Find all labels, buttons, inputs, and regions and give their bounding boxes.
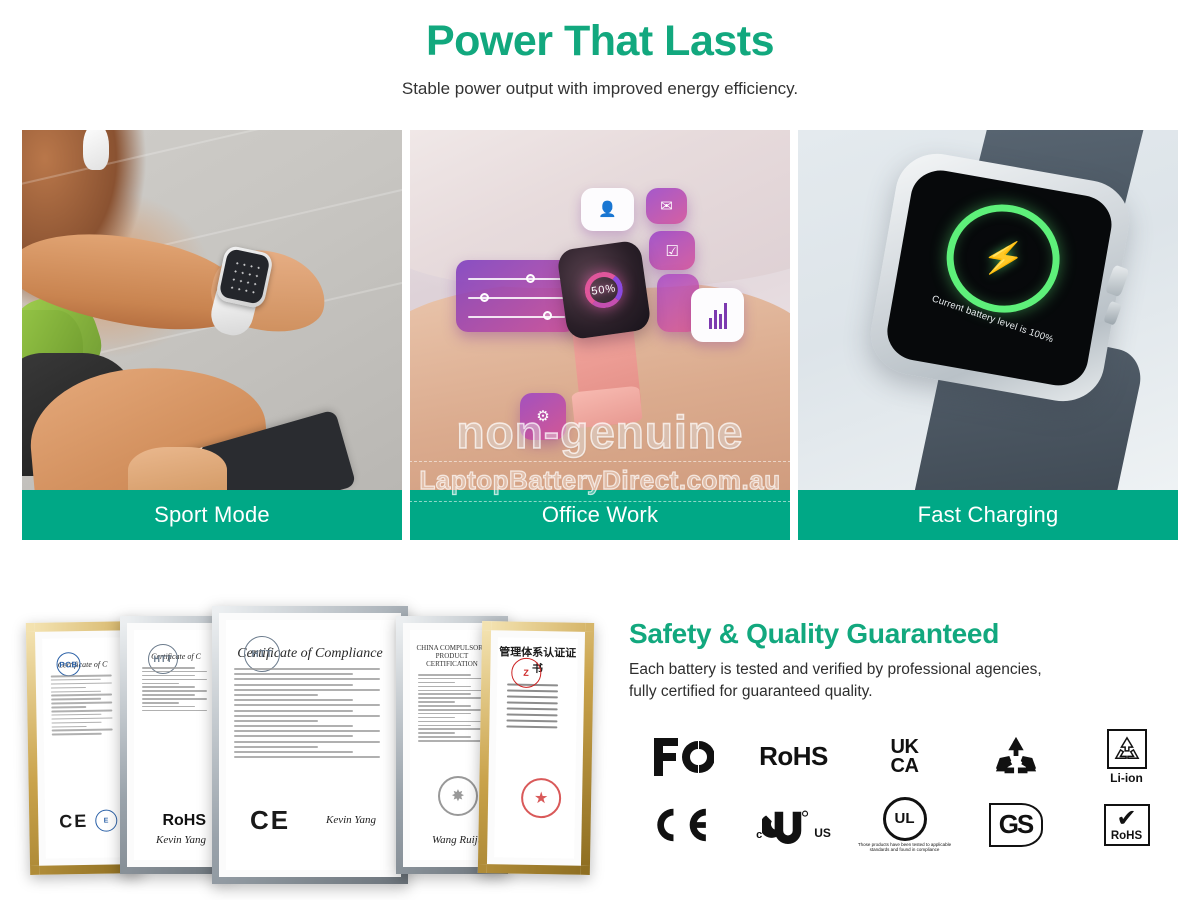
sport-mode-photo — [22, 130, 402, 490]
safety-description-line2: fully certified for guaranteed quality. — [629, 683, 873, 700]
marketing-page: Power That Lasts Stable power output wit… — [0, 0, 1200, 900]
rohs-check-label: RoHS — [1111, 830, 1142, 842]
ukca-badge-icon: UK CA — [891, 726, 919, 788]
page-subtitle: Stable power output with improved energy… — [0, 79, 1200, 99]
analytics-tile — [691, 288, 744, 342]
certificate-body-lines — [142, 667, 210, 711]
bar-chart-icon — [691, 288, 744, 342]
htt-logo-icon: HTT — [148, 644, 178, 674]
safety-title: Safety & Quality Guaranteed — [629, 618, 1180, 650]
watch-screen: ⚡ Current battery level is 100% — [883, 165, 1116, 389]
smartwatch-device: ⚡ Current battery level is 100% — [864, 147, 1135, 408]
digital-crown — [1104, 265, 1129, 298]
feature-card-row: Sport Mode 👤 ✉ — [22, 130, 1178, 540]
page-title: Power That Lasts — [0, 18, 1200, 65]
official-stamp-icon: ✸ — [438, 776, 478, 816]
smartwatch-device: 50% — [556, 240, 651, 341]
certificate-collage: PCB Certificate of C CE E HTT Certificat… — [0, 600, 615, 900]
check-square-icon: ☑ — [649, 231, 695, 271]
gs-badge-icon: GS — [989, 794, 1043, 856]
red-star-stamp-icon: ★ — [521, 778, 562, 819]
secondary-mark-icon: E — [95, 809, 117, 831]
contact-card-tile: 👤 — [581, 188, 634, 231]
settings-tile: ⚙ — [520, 393, 566, 440]
gear-icon: ⚙ — [520, 393, 566, 440]
signature: Kevin Yang — [156, 834, 206, 846]
certificate-body-lines — [234, 668, 386, 758]
safety-description-line1: Each battery is tested and verified by p… — [629, 661, 1042, 678]
feature-card-fast-charging[interactable]: ⚡ Current battery level is 100% Fast Cha… — [798, 130, 1178, 540]
person-icon: 👤 — [581, 188, 634, 231]
envelope-icon: ✉ — [646, 188, 688, 224]
rohs-check-badge-icon: ✔ RoHS — [1104, 794, 1150, 856]
certification-badge-grid: RoHS UK CA — [629, 726, 1180, 856]
ce-mark: CE — [59, 811, 88, 833]
mail-tile: ✉ — [646, 188, 688, 224]
checklist-tile: ☑ — [649, 231, 695, 271]
ul-subtext: Those products have been tested to appli… — [851, 842, 958, 853]
c-ru-us-badge-icon: c US — [756, 794, 831, 856]
lower-section: PCB Certificate of C CE E HTT Certificat… — [0, 600, 1200, 900]
pcb-logo-icon: PCB — [56, 652, 80, 676]
watch-app-grid-icon — [227, 258, 261, 295]
htt-logo-icon: HTT — [244, 636, 280, 672]
signature: Kevin Yang — [326, 814, 376, 826]
certificate-body-lines — [51, 674, 116, 735]
certificate-body-lines — [418, 674, 486, 742]
certificate-chinese-system: Z 管理体系认证证书 ★ — [478, 621, 594, 875]
li-ion-recycle-box — [1107, 729, 1147, 769]
watch-screen — [218, 248, 271, 305]
fast-charging-photo: ⚡ Current battery level is 100% — [798, 130, 1178, 490]
certificate-heading: Certificate of C — [42, 659, 122, 669]
li-ion-label: Li-ion — [1110, 771, 1143, 785]
fcc-badge-icon — [652, 726, 714, 788]
feature-card-office-work[interactable]: 👤 ✉ ☑ ⚙ — [410, 130, 790, 540]
feature-label-sport-mode: Sport Mode — [22, 490, 402, 540]
office-work-photo: 👤 ✉ ☑ ⚙ — [410, 130, 790, 490]
lightning-bolt-icon: ⚡ — [979, 238, 1027, 279]
gs-mark: GS — [989, 803, 1043, 847]
recycle-badge-icon — [993, 726, 1039, 788]
checkmark-icon: ✔ — [1116, 808, 1136, 831]
ce-badge-icon — [652, 794, 714, 856]
certificate-body-lines — [506, 683, 567, 728]
rohs-mark: RoHS — [162, 812, 206, 830]
ce-mark: CE — [250, 805, 290, 836]
feature-label-fast-charging: Fast Charging — [798, 490, 1178, 540]
ul-mark: UL — [883, 797, 927, 841]
safety-quality-panel: Safety & Quality Guaranteed Each battery… — [615, 600, 1200, 900]
earbud-shape — [83, 130, 110, 170]
watch-band-lower-shape — [572, 386, 644, 429]
fingers-shape — [128, 447, 227, 490]
side-button — [1102, 301, 1121, 326]
feature-card-sport-mode[interactable]: Sport Mode — [22, 130, 402, 540]
safety-description: Each battery is tested and verified by p… — [629, 659, 1180, 704]
rohs-badge-icon: RoHS — [759, 726, 828, 788]
battery-percentage: 50% — [556, 240, 651, 341]
certificate-htt-compliance: HTT Certificate of Compliance CE Kevin Y… — [212, 606, 408, 884]
li-ion-badge-icon: Li-ion — [1107, 726, 1147, 788]
hero-section: Power That Lasts Stable power output wit… — [0, 0, 1200, 99]
feature-label-office-work: Office Work — [410, 490, 790, 540]
ul-badge-icon: UL Those products have been tested to ap… — [851, 794, 958, 856]
